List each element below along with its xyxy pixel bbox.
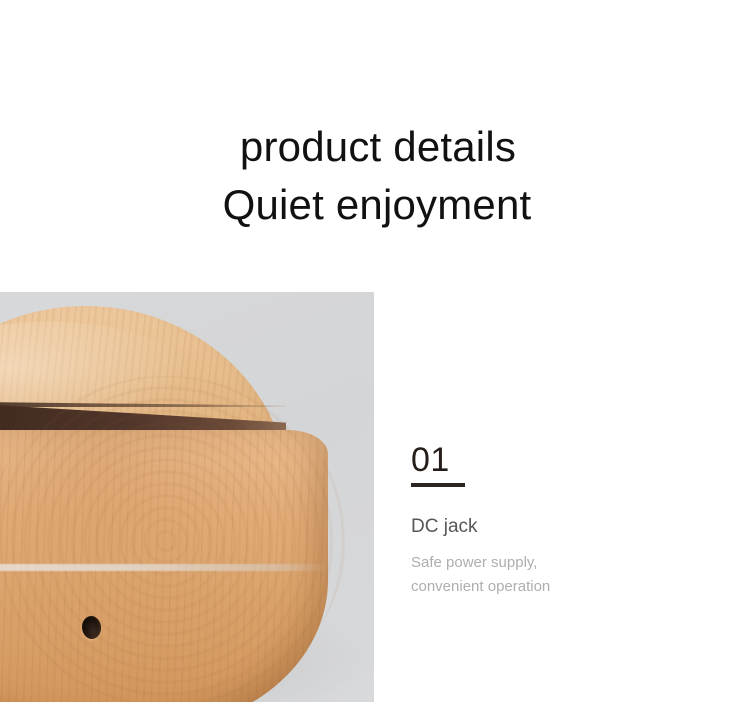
body-wood-grain <box>0 376 346 702</box>
feature-title: DC jack <box>411 515 691 539</box>
feature-description-line-2: convenient operation <box>411 575 691 599</box>
feature-underline-rule <box>411 483 465 487</box>
page-title: product details <box>6 118 750 176</box>
product-photo <box>0 292 374 702</box>
feature-description: Safe power supply, convenient operation <box>411 551 691 599</box>
feature-info-block: 01 DC jack Safe power supply, convenient… <box>411 441 691 599</box>
product-photo-scene <box>0 292 374 702</box>
feature-number: 01 <box>411 441 691 479</box>
feature-description-line-1: Safe power supply, <box>411 551 691 575</box>
heading-block: product details Quiet enjoyment <box>0 118 750 234</box>
page-subtitle: Quiet enjoyment <box>4 176 750 234</box>
body-seam-line <box>0 564 328 571</box>
product-detail-page: product details Quiet enjoyment 01 DC ja… <box>0 0 750 702</box>
